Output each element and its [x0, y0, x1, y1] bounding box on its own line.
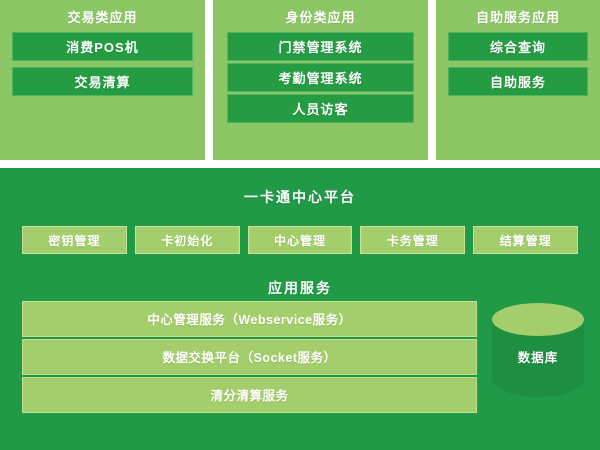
- panel-item-list: 综合查询 自助服务: [436, 32, 600, 96]
- application-services-stack: 中心管理服务（Webservice服务） 数据交换平台（Socket服务） 清分…: [22, 301, 477, 413]
- app-box-visitor-management[interactable]: 人员访客: [227, 94, 414, 123]
- panel-divider-gap-2: [428, 0, 436, 160]
- panel-title: 交易类应用: [67, 6, 137, 32]
- panel-self-service-applications[interactable]: 自助服务应用 综合查询 自助服务: [436, 0, 600, 160]
- app-box-comprehensive-query[interactable]: 综合查询: [448, 32, 588, 61]
- app-box-transaction-settlement[interactable]: 交易清算: [12, 67, 193, 96]
- service-data-exchange-socket[interactable]: 数据交换平台（Socket服务）: [22, 339, 477, 375]
- panel-title: 自助服务应用: [476, 6, 560, 32]
- database-top-ellipse: [492, 303, 584, 336]
- app-box-attendance-system[interactable]: 考勤管理系统: [227, 63, 414, 92]
- app-box-consumption-pos[interactable]: 消费POS机: [12, 32, 193, 61]
- panel-divider-gap-1: [205, 0, 213, 160]
- panel-title: 身份类应用: [285, 6, 355, 32]
- service-center-management-webservice[interactable]: 中心管理服务（Webservice服务）: [22, 301, 477, 337]
- platform-title: 一卡通中心平台: [0, 168, 600, 208]
- database-cylinder[interactable]: 数据库: [492, 303, 584, 405]
- app-box-access-control-system[interactable]: 门禁管理系统: [227, 32, 414, 61]
- panel-identity-applications[interactable]: 身份类应用 门禁管理系统 考勤管理系统 人员访客: [213, 0, 428, 160]
- panel-item-list: 门禁管理系统 考勤管理系统 人员访客: [213, 32, 428, 123]
- module-card-initialization[interactable]: 卡初始化: [135, 226, 240, 254]
- center-platform: 一卡通中心平台 密钥管理 卡初始化 中心管理 卡务管理 结算管理 应用服务 中心…: [0, 168, 600, 450]
- database-label: 数据库: [492, 347, 584, 366]
- module-center-management[interactable]: 中心管理: [248, 226, 353, 254]
- panel-transaction-applications[interactable]: 交易类应用 消费POS机 交易清算: [0, 0, 205, 160]
- application-band: 交易类应用 消费POS机 交易清算 身份类应用 门禁管理系统 考勤管理系统 人员…: [0, 0, 600, 160]
- architecture-diagram: 交易类应用 消费POS机 交易清算 身份类应用 门禁管理系统 考勤管理系统 人员…: [0, 0, 600, 450]
- service-clearing-settlement[interactable]: 清分清算服务: [22, 377, 477, 413]
- panel-item-list: 消费POS机 交易清算: [0, 32, 205, 96]
- app-box-self-service[interactable]: 自助服务: [448, 67, 588, 96]
- module-key-management[interactable]: 密钥管理: [22, 226, 127, 254]
- platform-module-row: 密钥管理 卡初始化 中心管理 卡务管理 结算管理: [22, 226, 578, 254]
- module-settlement-management[interactable]: 结算管理: [473, 226, 578, 254]
- application-services-title: 应用服务: [0, 278, 600, 298]
- module-card-service-management[interactable]: 卡务管理: [360, 226, 465, 254]
